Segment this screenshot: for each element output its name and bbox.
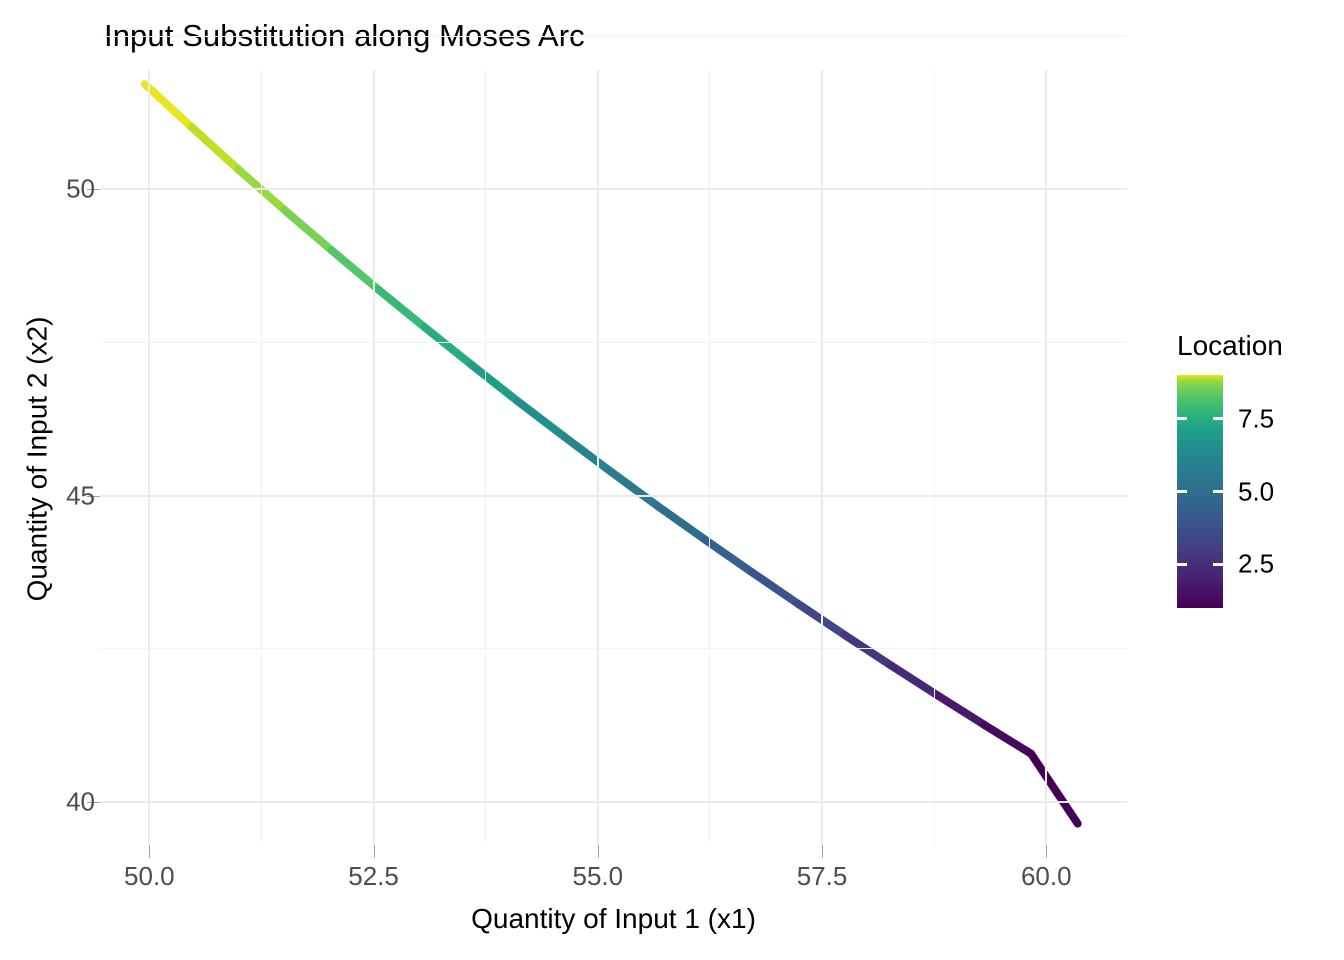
line-segment	[285, 210, 332, 250]
gridline-minor-vertical	[934, 70, 935, 845]
gridline-minor-vertical	[709, 70, 710, 845]
x-axis-tick-label: 57.5	[797, 861, 848, 892]
gridline-major-vertical	[821, 70, 823, 845]
line-segment	[425, 327, 472, 364]
y-axis-tick-label: 40	[66, 787, 95, 818]
x-axis-tick-label: 60.0	[1021, 861, 1072, 892]
line-segment	[331, 250, 378, 289]
colorbar-tick	[1177, 490, 1187, 493]
x-axis-tick-label: 52.5	[348, 861, 399, 892]
y-axis-title: Quantity of Input 2 (x2)	[22, 72, 54, 847]
gridline-major-horizontal	[100, 495, 1127, 497]
line-segment	[938, 696, 985, 725]
line-segment	[518, 401, 565, 437]
line-segment	[611, 472, 658, 506]
x-axis-title: Quantity of Input 1 (x1)	[0, 903, 1227, 935]
colorbar-tick	[1213, 417, 1223, 420]
line-plot-svg	[100, 70, 1127, 845]
y-axis-tick-label: 50	[66, 174, 95, 205]
plot-panel	[100, 70, 1127, 845]
line-segment	[1031, 754, 1078, 824]
x-axis-tick	[1046, 845, 1047, 858]
line-segment	[751, 572, 798, 604]
x-axis-tick	[149, 845, 150, 858]
x-axis-tick-label: 55.0	[572, 861, 623, 892]
gridline-major-horizontal	[100, 801, 1127, 803]
x-axis-tick	[374, 845, 375, 858]
colorbar-tick-label: 5.0	[1238, 476, 1274, 507]
line-segment	[191, 127, 238, 169]
line-segment	[145, 84, 192, 127]
gridline-major-vertical	[1045, 70, 1047, 845]
line-segment	[891, 665, 938, 695]
gridline-major-vertical	[148, 70, 150, 845]
line-segment	[984, 725, 1031, 754]
gridline-major-horizontal	[100, 188, 1127, 190]
x-axis-tick	[822, 845, 823, 858]
colorbar-tick	[1177, 417, 1187, 420]
line-segment	[471, 365, 518, 402]
gridline-minor-horizontal	[100, 342, 1127, 343]
gridline-major-vertical	[373, 70, 375, 845]
line-segment	[378, 289, 425, 327]
gridline-minor-horizontal	[100, 648, 1127, 649]
gridline-minor-horizontal	[100, 36, 1127, 37]
x-axis-tick-label: 50.0	[124, 861, 175, 892]
x-axis-tick	[598, 845, 599, 858]
line-segment	[705, 539, 752, 571]
gridline-major-vertical	[597, 70, 599, 845]
colorbar-tick	[1177, 563, 1187, 566]
colorbar-tick	[1213, 490, 1223, 493]
line-segment	[565, 437, 612, 472]
gridline-minor-vertical	[485, 70, 486, 845]
line-segment	[658, 506, 705, 539]
colorbar-tick-label: 2.5	[1238, 549, 1274, 580]
y-axis-tick-label: 45	[66, 480, 95, 511]
colorbar-tick-label: 7.5	[1238, 403, 1274, 434]
line-segment	[844, 635, 891, 666]
gridline-minor-vertical	[261, 70, 262, 845]
legend-title: Location	[1177, 330, 1283, 362]
chart-root: Input Substitution along Moses Arc 50.05…	[0, 0, 1344, 960]
colorbar-tick	[1213, 563, 1223, 566]
